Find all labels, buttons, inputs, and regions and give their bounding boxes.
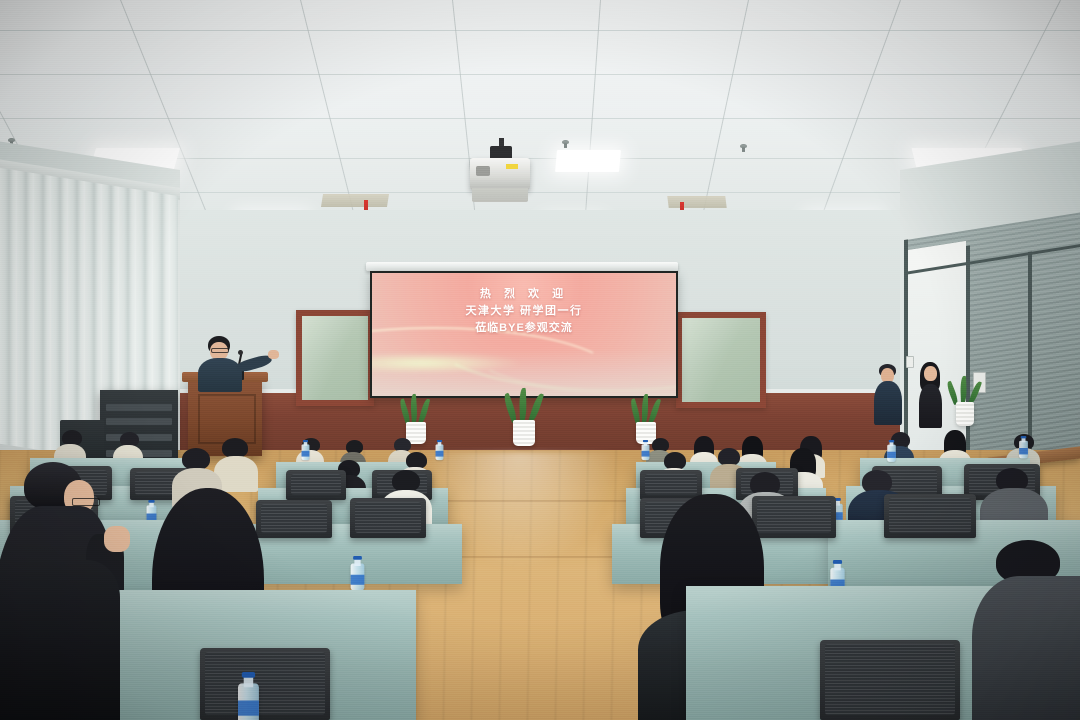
chair-front[interactable] — [820, 640, 960, 720]
chair-front[interactable] — [200, 648, 330, 720]
projector-lens — [476, 166, 490, 176]
person-head — [924, 366, 937, 381]
screen-housing — [366, 262, 678, 271]
slide-line-3: 莅临BYE参观交流 — [372, 321, 676, 337]
projection-screen: 热 烈 欢 迎 天津大学 研学团一行 莅临BYE参观交流 — [370, 271, 678, 398]
projector-label — [506, 164, 518, 169]
sprinkler-head — [562, 140, 569, 144]
chair[interactable] — [752, 496, 836, 538]
slide-text-block: 热 烈 欢 迎 天津大学 研学团一行 莅临BYE参观交流 — [372, 287, 676, 337]
chair[interactable] — [286, 470, 346, 500]
slide-line-1: 热 烈 欢 迎 — [372, 287, 676, 303]
chair[interactable] — [256, 500, 332, 538]
chair[interactable] — [350, 498, 426, 538]
ceiling-panel-light — [555, 150, 621, 172]
conference-room-photo: 热 烈 欢 迎 天津大学 研学团一行 莅临BYE参观交流 — [0, 0, 1080, 720]
glasses-icon — [72, 498, 100, 506]
person-torso — [919, 384, 942, 428]
sprinkler-head — [8, 138, 15, 142]
presenter-hand — [268, 350, 279, 359]
sprinkler-head — [740, 144, 747, 148]
chalkboard-left — [296, 310, 374, 406]
microphone-head — [238, 350, 243, 355]
chalkboard-right — [676, 312, 766, 408]
presenter-torso — [198, 358, 242, 392]
light-switch[interactable] — [906, 356, 914, 368]
chair[interactable] — [884, 494, 976, 538]
person-torso — [874, 381, 902, 425]
glass-mullion — [966, 245, 970, 474]
ceiling-vent — [321, 194, 389, 207]
ceiling-vent — [667, 196, 726, 208]
chair[interactable] — [640, 470, 702, 500]
slide-line-2: 天津大学 研学团一行 — [372, 304, 676, 320]
presenter-glasses — [211, 348, 229, 353]
